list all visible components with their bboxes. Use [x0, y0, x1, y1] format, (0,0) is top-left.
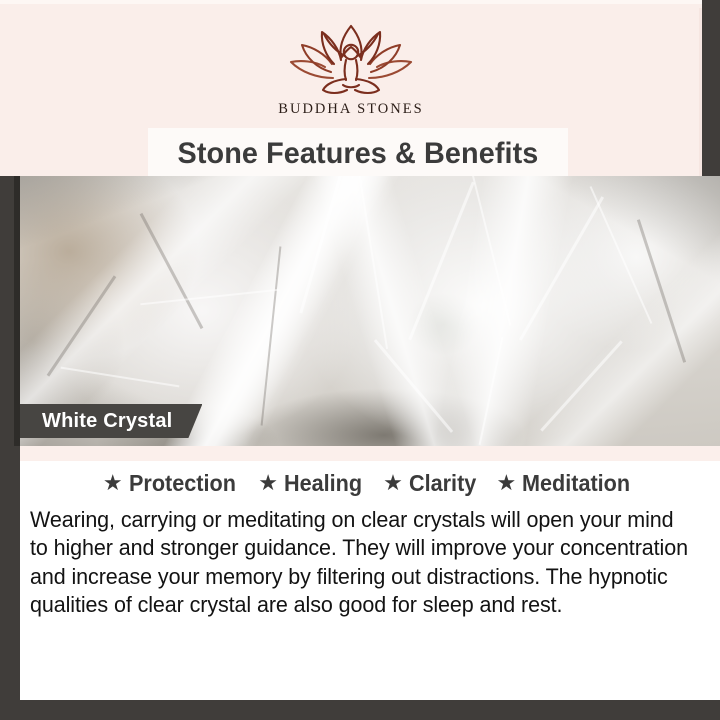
feature-item: ★ Healing [258, 470, 367, 497]
stone-name-label: White Crystal [42, 410, 172, 433]
features-row: ★ Protection ★ Healing ★ Clarity ★ Medit… [20, 461, 720, 497]
accent-strip [20, 446, 720, 461]
feature-item: ★ Protection [103, 470, 242, 497]
frame-border-bottom [0, 700, 720, 720]
title-banner: Stone Features & Benefits [148, 128, 568, 180]
star-icon: ★ [258, 472, 278, 494]
description-paragraph: Wearing, carrying or meditating on clear… [30, 506, 696, 620]
feature-item: ★ Meditation [496, 470, 637, 497]
feature-label: Clarity [409, 470, 476, 497]
feature-label: Meditation [522, 470, 630, 497]
content-panel: ★ Protection ★ Healing ★ Clarity ★ Medit… [20, 461, 720, 700]
star-icon: ★ [103, 472, 123, 494]
stone-name-tag: White Crystal [20, 404, 202, 438]
brand-name: BUDDHA STONES [278, 101, 423, 118]
star-icon: ★ [496, 472, 516, 494]
lotus-meditation-icon [277, 20, 425, 98]
feature-label: Protection [129, 470, 236, 497]
feature-label: Healing [284, 470, 362, 497]
star-icon: ★ [383, 472, 403, 494]
frame-border-right [702, 0, 720, 176]
header-panel: BUDDHA STONES Stone Features & Benefits [0, 0, 702, 176]
page-title: Stone Features & Benefits [178, 137, 539, 171]
stone-features-infographic: BUDDHA STONES Stone Features & Benefits [0, 0, 720, 720]
brand-logo-block: BUDDHA STONES [0, 20, 702, 118]
feature-item: ★ Clarity [383, 470, 480, 497]
frame-border-left-shadow [14, 176, 20, 446]
